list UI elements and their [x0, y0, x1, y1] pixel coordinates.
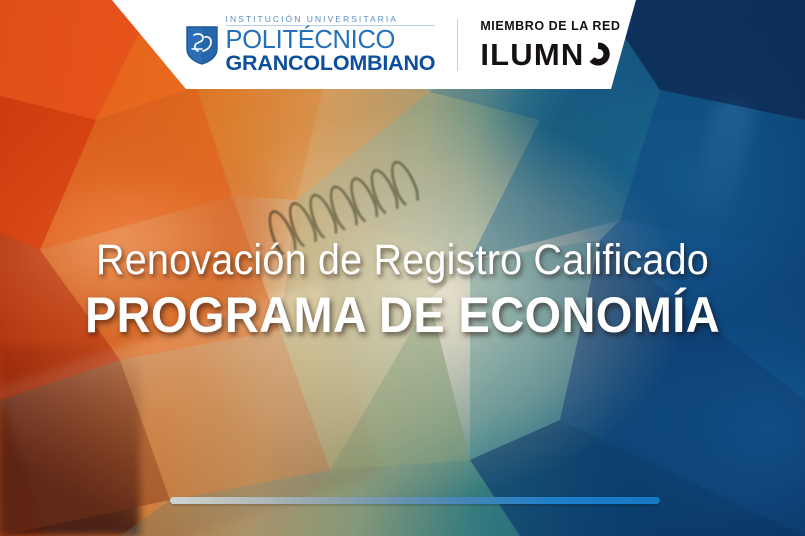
promotional-banner: INSTITUCIÓN UNIVERSITARIA POLITÉCNICO GR…: [0, 0, 805, 536]
shield-icon: [185, 25, 219, 65]
ilumno-wordmark-row: ILUMN: [480, 39, 611, 70]
banner-program-title: PROGRAMA DE ECONOMÍA: [24, 288, 781, 342]
header-logo-row: INSTITUCIÓN UNIVERSITARIA POLITÉCNICO GR…: [0, 0, 805, 90]
grancolombiano-line: GRANCOLOMBIANO: [226, 53, 436, 75]
banner-subtitle: Renovación de Registro Calificado: [32, 238, 773, 283]
politecnico-wordmark: INSTITUCIÓN UNIVERSITARIA POLITÉCNICO GR…: [226, 15, 436, 75]
dark-vignette-corner: [0, 346, 140, 536]
ilumno-circle-mark-icon: [585, 41, 611, 67]
politecnico-line: POLITÉCNICO: [226, 28, 436, 53]
institution-eyebrow: INSTITUCIÓN UNIVERSITARIA: [226, 15, 436, 27]
banner-title-block: Renovación de Registro Calificado PROGRA…: [0, 238, 805, 342]
ilumno-eyebrow: MIEMBRO DE LA RED: [480, 20, 620, 33]
politecnico-grancolombiano-logo[interactable]: INSTITUCIÓN UNIVERSITARIA POLITÉCNICO GR…: [185, 15, 436, 75]
ilumno-logo[interactable]: MIEMBRO DE LA RED ILUMN: [480, 20, 620, 70]
ilumno-wordmark: ILUMN: [480, 39, 584, 70]
logo-separator-divider: [457, 19, 458, 71]
bottom-accent-bar: [170, 497, 660, 504]
